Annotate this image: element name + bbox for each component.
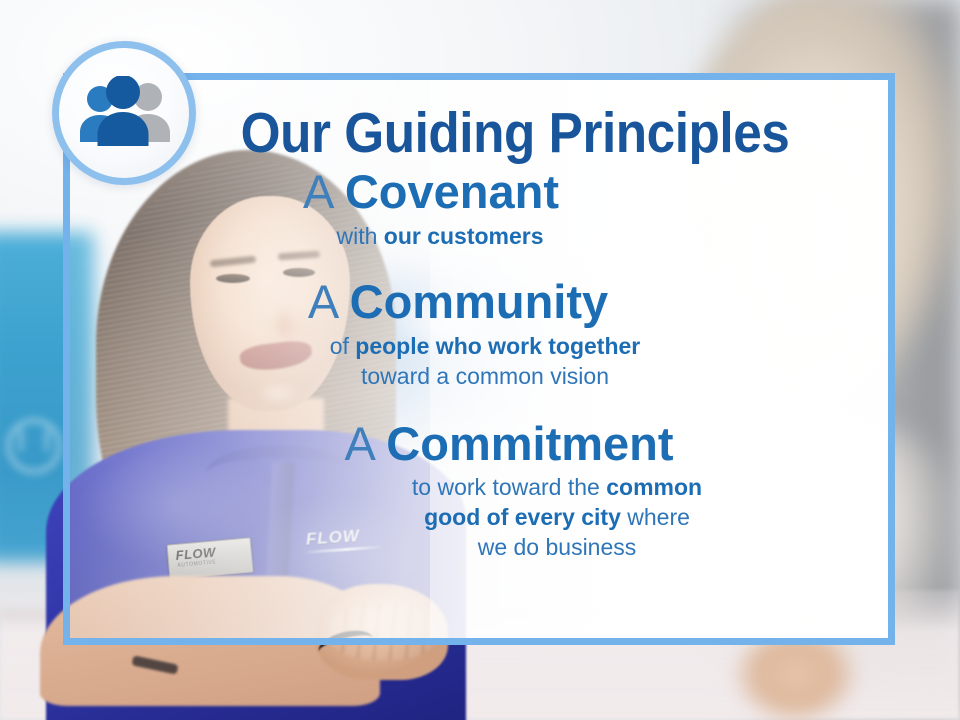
- principle-covenant-word: Covenant: [345, 165, 559, 218]
- principle-commitment-word: Commitment: [386, 417, 673, 470]
- principle-community: A Community of people who work together …: [105, 278, 853, 392]
- text-run-bold: people who work together: [355, 333, 640, 359]
- principle-community-word: Community: [350, 275, 609, 328]
- text-run-bold: good of every city: [424, 504, 621, 530]
- principle-commitment-article: A: [344, 417, 373, 470]
- principle-commitment: A Commitment to work toward the common g…: [105, 420, 853, 564]
- text-run: where: [621, 504, 690, 530]
- text-run-bold: our customers: [384, 223, 544, 249]
- principle-community-subtext: of people who work together toward a com…: [105, 332, 811, 392]
- principle-covenant-article: A: [303, 165, 332, 218]
- principle-covenant-heading: A Covenant: [105, 168, 757, 216]
- principle-community-subline-2: toward a common vision: [159, 362, 811, 392]
- guiding-principles-graphic: FLOW FLOW AUTOMOTIVE Our Guiding Princip…: [0, 0, 960, 720]
- principle-community-heading: A Community: [105, 278, 811, 326]
- principle-community-subline-1: of people who work together: [159, 332, 811, 362]
- principle-commitment-subline-2: good of every city where: [261, 503, 853, 533]
- text-run-bold: common: [606, 474, 702, 500]
- principle-covenant: A Covenant with our customers: [105, 168, 853, 252]
- principle-commitment-subline-3: we do business: [261, 533, 853, 563]
- principle-covenant-subline-1: with our customers: [123, 222, 757, 252]
- principle-commitment-subtext: to work toward the common good of every …: [165, 473, 853, 563]
- text-run: of: [330, 333, 356, 359]
- vw-logo-blurred-icon: [6, 418, 62, 474]
- principle-covenant-subtext: with our customers: [105, 222, 757, 252]
- page-title: Our Guiding Principles: [211, 105, 819, 162]
- message-panel: Our Guiding Principles A Covenant with o…: [63, 73, 895, 645]
- people-group-icon: [72, 76, 176, 150]
- principle-community-article: A: [308, 275, 337, 328]
- people-group-badge: [52, 41, 196, 185]
- text-run: to work toward the: [412, 474, 606, 500]
- text-run: with: [336, 223, 383, 249]
- principle-commitment-subline-1: to work toward the common: [261, 473, 853, 503]
- text-run: toward a common vision: [361, 363, 609, 389]
- principle-commitment-heading: A Commitment: [165, 420, 853, 468]
- text-run: we do business: [478, 534, 637, 560]
